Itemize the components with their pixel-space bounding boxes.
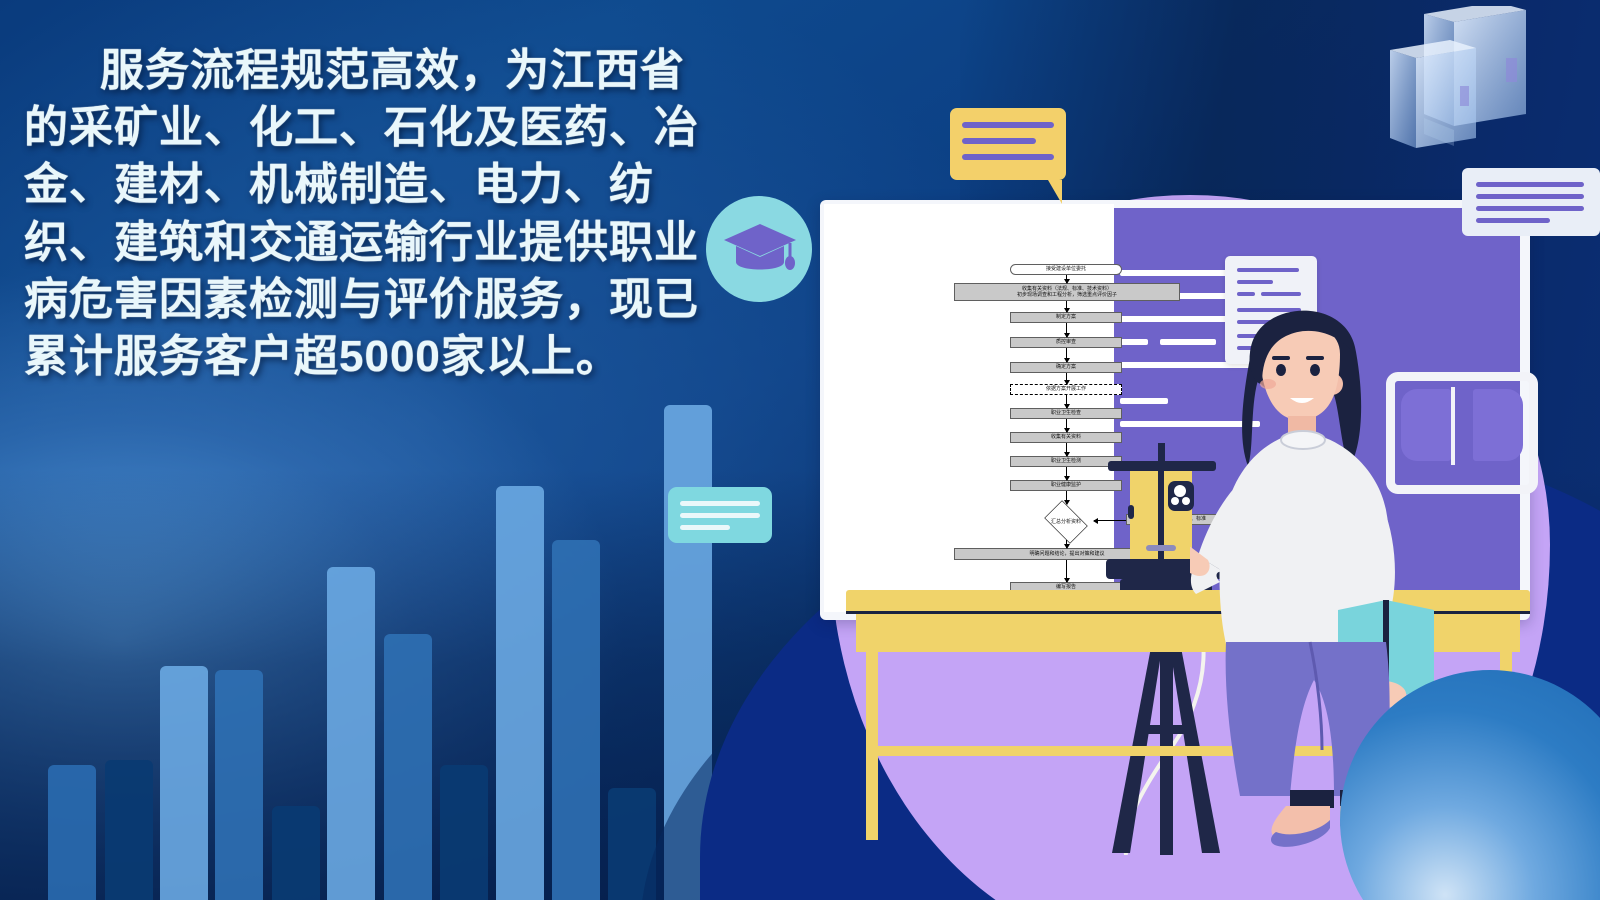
- chart-bar: [272, 806, 320, 900]
- headline-line: 的采矿业、化工、石化及医药、冶: [24, 99, 784, 156]
- flow-node: 质控审查: [1010, 337, 1122, 348]
- flow-arrow: [1066, 275, 1067, 283]
- chart-bar: [552, 540, 600, 900]
- speech-bubble-teal: [668, 487, 772, 543]
- flow-node: 制定方案: [1010, 312, 1122, 323]
- page-title: 服务流程规范高效，为江西省的采矿业、化工、石化及医药、冶金、建材、机械制造、电力…: [24, 42, 784, 385]
- chart-bar: [105, 760, 153, 900]
- flow-arrow: [1066, 540, 1067, 548]
- flow-arrow: [1066, 419, 1067, 432]
- flow-node: 依据方案开展工作: [1010, 384, 1122, 395]
- graduation-cap-icon: [720, 218, 800, 282]
- flow-arrow: [1066, 395, 1067, 408]
- flow-node: 收集有关资料（法规、标准、技术资料）初步现场调查和工程分析，筛选重点评价因子: [954, 283, 1180, 301]
- headline-line: 织、建筑和交通运输行业提供职业: [24, 214, 784, 271]
- open-book-icon: [1386, 372, 1538, 494]
- chart-bar: [160, 666, 208, 900]
- chart-bar: [327, 567, 375, 900]
- flow-arrow: [1066, 348, 1067, 362]
- flow-arrow: [1066, 323, 1067, 337]
- flow-node: 接受建设单位委托: [1010, 264, 1122, 275]
- chart-bar: [496, 486, 544, 900]
- headline-line: 累计服务客户超5000家以上。: [24, 328, 784, 385]
- flow-arrow: [1066, 301, 1067, 312]
- headline-line: 金、建材、机械制造、电力、纺: [24, 156, 784, 213]
- books-icon: [1380, 6, 1600, 186]
- chart-bar: [384, 634, 432, 900]
- graduation-cap-badge: [706, 196, 812, 302]
- flow-arrow: [1066, 560, 1067, 582]
- chart-bar: [48, 765, 96, 900]
- flow-arrow: [1066, 443, 1067, 456]
- headline-line: 服务流程规范高效，为江西省: [24, 42, 784, 99]
- flow-arrow: [1066, 373, 1067, 384]
- desk-leg-left: [866, 650, 878, 840]
- headline-line: 病危害因素检测与评价服务，现已: [24, 271, 784, 328]
- poster-canvas: 服务流程规范高效，为江西省的采矿业、化工、石化及医药、冶金、建材、机械制造、电力…: [0, 0, 1600, 900]
- speech-bubble-yellow: [950, 108, 1066, 180]
- flow-arrow: [1066, 467, 1067, 480]
- chart-bar: [215, 670, 263, 900]
- flow-node: 职业卫生检查: [1010, 408, 1122, 419]
- chart-bar: [440, 765, 488, 900]
- flow-node: 确定方案: [1010, 362, 1122, 373]
- note-card-icon: [1462, 168, 1600, 236]
- flow-arrow: [1066, 491, 1067, 504]
